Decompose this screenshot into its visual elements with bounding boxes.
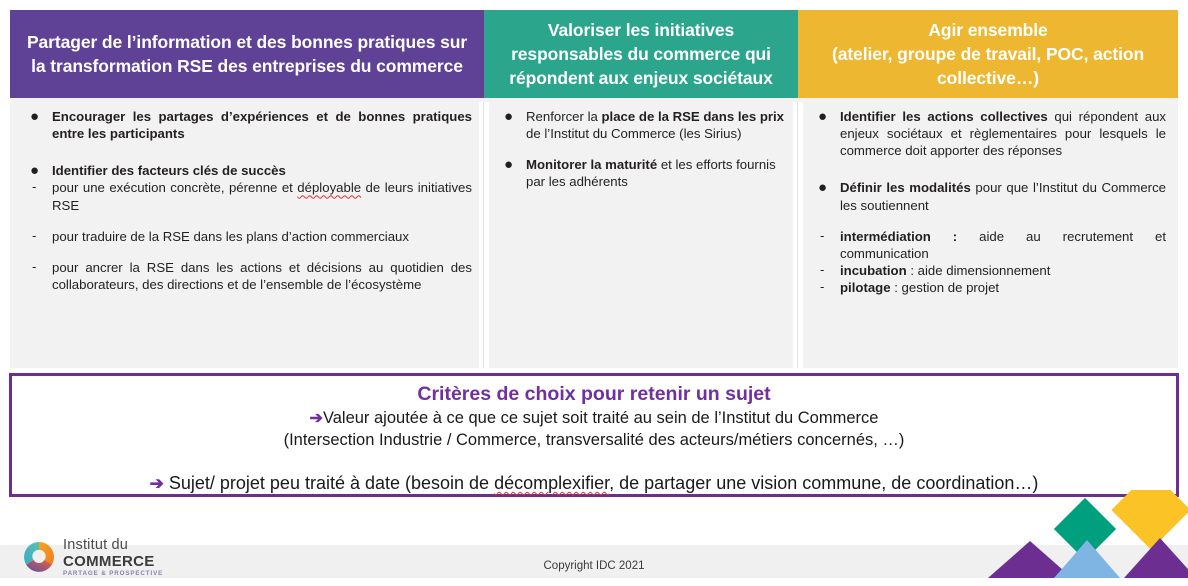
column-body-agir: ●Identifier les actions collectives qui …: [798, 98, 1178, 368]
bullet-dash-icon: -: [820, 228, 824, 245]
logo-wordmark: Institut du COMMERCE PARTAGE & PROSPECTI…: [63, 538, 163, 577]
list-item-text: Renforcer la place de la RSE dans les pr…: [526, 109, 784, 141]
logo-line-1: Institut du: [63, 538, 163, 553]
criteria-line-3-text: Sujet/ projet peu traité à date (besoin …: [169, 473, 1039, 493]
column-partager: Partager de l’information et des bonnes …: [10, 10, 484, 368]
column-body-valoriser: ●Renforcer la place de la RSE dans les p…: [484, 98, 798, 368]
bullet-dot-icon: ●: [818, 108, 827, 125]
column-header-partager: Partager de l’information et des bonnes …: [10, 10, 484, 98]
bullet-list-partager: ●Encourager les partages d’expériences e…: [22, 108, 472, 293]
criteria-line-2: (Intersection Industrie / Commerce, tran…: [12, 430, 1176, 452]
list-item: ●Identifier des facteurs clés de succès: [22, 162, 472, 179]
criteria-title: Critères de choix pour retenir un sujet: [12, 383, 1176, 406]
bullet-dot-icon: ●: [504, 156, 513, 173]
list-item: ●Renforcer la place de la RSE dans les p…: [496, 108, 786, 142]
bullet-list-valoriser: ●Renforcer la place de la RSE dans les p…: [496, 108, 786, 190]
spacer: [22, 142, 472, 162]
list-item: ●Monitorer la maturité et les efforts fo…: [496, 156, 786, 190]
arrow-icon: ➔: [310, 410, 323, 427]
footer-white-strip: [0, 578, 1188, 586]
list-item: -incubation : aide dimensionnement: [810, 262, 1166, 279]
list-item-text: Encourager les partages d’expériences et…: [52, 109, 472, 141]
list-item: -intermédiation : aide au recrutement et…: [810, 228, 1166, 262]
bullet-dot-icon: ●: [818, 179, 827, 196]
list-item-text: Identifier des facteurs clés de succès: [52, 163, 286, 178]
bullet-dot-icon: ●: [30, 162, 39, 179]
criteria-line-1: ➔Valeur ajoutée à ce que ce sujet soit t…: [12, 408, 1176, 430]
list-item-text: incubation : aide dimensionnement: [840, 263, 1050, 278]
logo-line-2: COMMERCE: [63, 554, 163, 569]
list-item-text: pilotage : gestion de projet: [840, 280, 999, 295]
bullet-dash-icon: -: [32, 228, 36, 245]
bullet-dot-icon: ●: [30, 108, 39, 125]
spacer: [496, 142, 786, 156]
arrow-icon-2: ➔: [150, 474, 164, 493]
criteria-line-1-text: Valeur ajoutée à ce que ce sujet soit tr…: [323, 409, 879, 427]
list-item: ●Encourager les partages d’expériences e…: [22, 108, 472, 142]
logo-line-3: PARTAGE & PROSPECTIVE: [63, 571, 163, 577]
spacer: [22, 245, 472, 259]
slide-root: Partager de l’information et des bonnes …: [0, 0, 1188, 586]
criteria-box: Critères de choix pour retenir un sujet …: [9, 373, 1179, 497]
three-column-block: Partager de l’information et des bonnes …: [10, 10, 1178, 368]
list-item: -pilotage : gestion de projet: [810, 279, 1166, 296]
bullet-dash-icon: -: [820, 279, 824, 296]
list-item-text: Définir les modalités pour que l’Institu…: [840, 180, 1166, 212]
list-item-text: pour ancrer la RSE dans les actions et d…: [52, 260, 472, 292]
list-item-text: pour traduire de la RSE dans les plans d…: [52, 229, 409, 244]
gold-diamond: [1111, 490, 1188, 550]
institut-du-commerce-logo: Institut du COMMERCE PARTAGE & PROSPECTI…: [22, 538, 163, 577]
spacer: [810, 214, 1166, 228]
spacer: [22, 214, 472, 228]
blue-triangle: [1054, 540, 1120, 578]
list-item: ●Identifier les actions collectives qui …: [810, 108, 1166, 159]
copyright-text: Copyright IDC 2021: [0, 560, 1188, 572]
list-item: ●Définir les modalités pour que l’Instit…: [810, 179, 1166, 213]
bullet-list-agir: ●Identifier les actions collectives qui …: [810, 108, 1166, 296]
logo-ring-icon: [22, 540, 56, 574]
list-item-text: pour une exécution concrète, pérenne et …: [52, 180, 472, 212]
spacer: [810, 159, 1166, 179]
bullet-dash-icon: -: [820, 262, 824, 279]
column-valoriser: Valoriser les initiatives responsables d…: [484, 10, 798, 368]
column-header-valoriser: Valoriser les initiatives responsables d…: [484, 10, 798, 98]
column-header-agir: Agir ensemble(atelier, groupe de travail…: [798, 10, 1178, 98]
list-item: -pour traduire de la RSE dans les plans …: [22, 228, 472, 245]
bullet-dash-icon: -: [32, 259, 36, 276]
list-item: -pour une exécution concrète, pérenne et…: [22, 179, 472, 213]
bullet-dash-icon: -: [32, 179, 36, 196]
column-body-partager: ●Encourager les partages d’expériences e…: [10, 98, 484, 368]
list-item: -pour ancrer la RSE dans les actions et …: [22, 259, 472, 293]
column-agir: Agir ensemble(atelier, groupe de travail…: [798, 10, 1178, 368]
list-item-text: intermédiation : aide au recrutement et …: [840, 229, 1166, 261]
list-item-text: Monitorer la maturité et les efforts fou…: [526, 157, 776, 189]
purple-triangle-right: [1124, 538, 1188, 578]
bullet-dot-icon: ●: [504, 108, 513, 125]
list-item-text: Identifier les actions collectives qui r…: [840, 109, 1166, 158]
